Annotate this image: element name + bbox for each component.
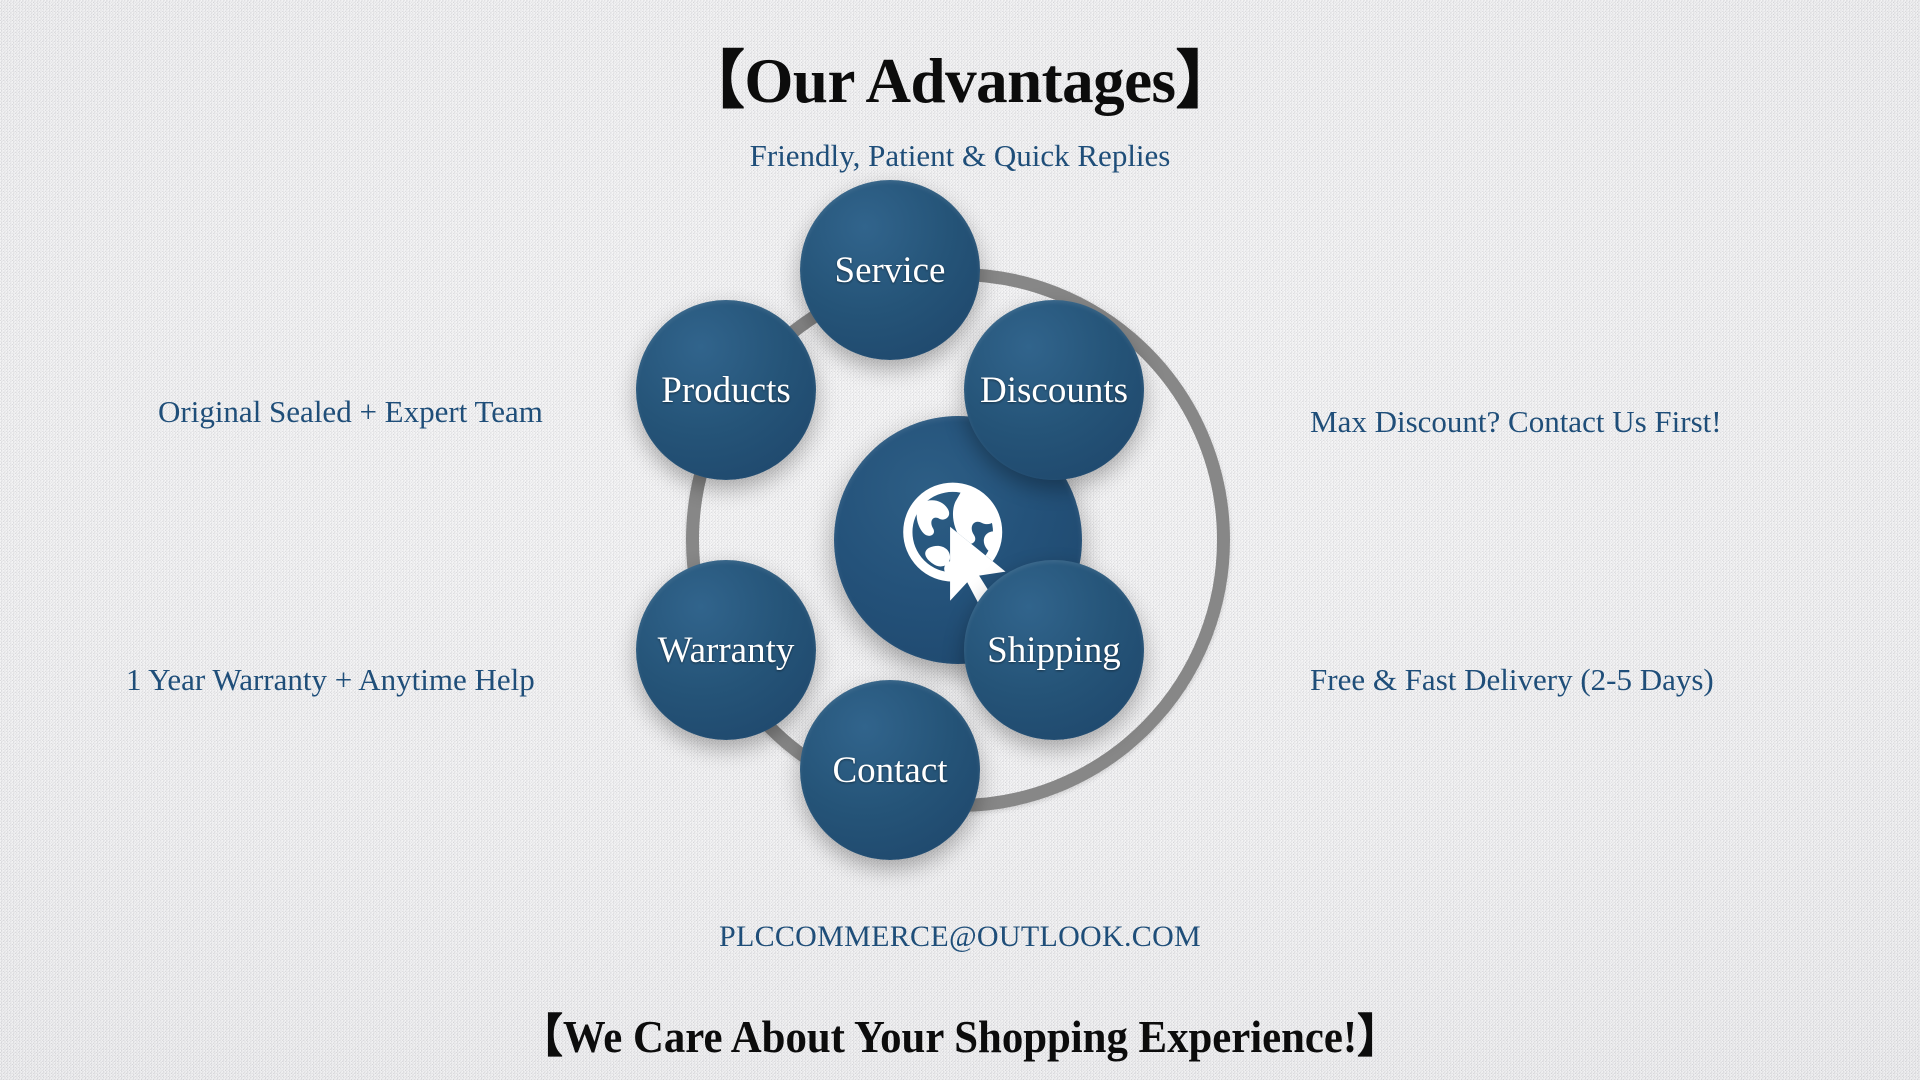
- node-label-shipping: Shipping: [987, 632, 1121, 669]
- caption-service: Friendly, Patient & Quick Replies: [0, 138, 1920, 174]
- node-products[interactable]: Products: [636, 300, 816, 480]
- caption-products: Original Sealed + Expert Team: [158, 396, 543, 427]
- advantages-diagram: Service Discounts Shipping Contact Warra…: [608, 190, 1308, 890]
- node-discounts[interactable]: Discounts: [964, 300, 1144, 480]
- page-tagline: 【We Care About Your Shopping Experience!…: [67, 1000, 1853, 1066]
- caption-discounts: Max Discount? Contact Us First!: [1310, 406, 1722, 437]
- node-label-service: Service: [835, 252, 946, 289]
- node-label-products: Products: [661, 372, 791, 409]
- node-shipping[interactable]: Shipping: [964, 560, 1144, 740]
- node-label-discounts: Discounts: [980, 372, 1128, 409]
- node-service[interactable]: Service: [800, 180, 980, 360]
- node-warranty[interactable]: Warranty: [636, 560, 816, 740]
- node-label-contact: Contact: [832, 752, 947, 789]
- node-label-warranty: Warranty: [658, 632, 795, 669]
- caption-shipping: Free & Fast Delivery (2-5 Days): [1310, 664, 1714, 695]
- page-title: 【Our Advantages】: [0, 30, 1920, 121]
- caption-warranty: 1 Year Warranty + Anytime Help: [126, 664, 535, 695]
- node-contact[interactable]: Contact: [800, 680, 980, 860]
- caption-contact-email: PLCCOMMERCE@OUTLOOK.COM: [0, 920, 1920, 954]
